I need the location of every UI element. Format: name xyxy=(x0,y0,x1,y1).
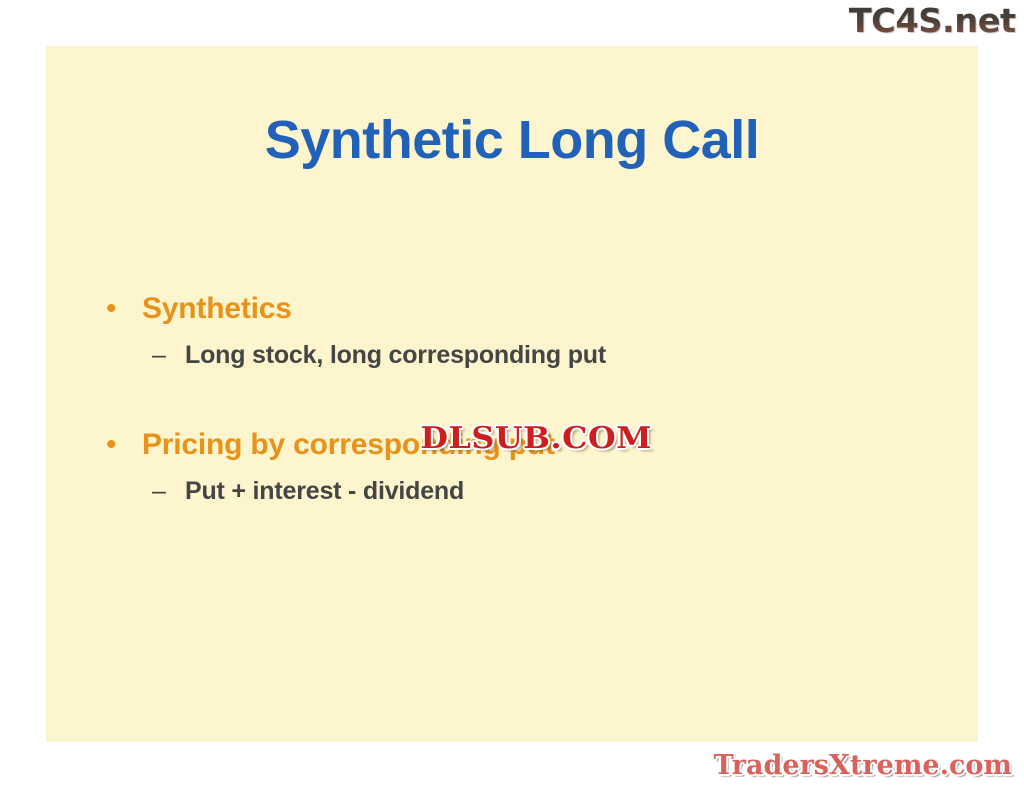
spacer xyxy=(46,372,978,426)
tradersxtreme-logo: TradersXtreme.com xyxy=(714,749,1012,783)
spacer xyxy=(46,330,978,338)
subbullet-item-long-stock: – Long stock, long corresponding put xyxy=(46,338,978,372)
dlsub-watermark: DLSUB.COM xyxy=(414,422,658,458)
bullet-dot-icon: • xyxy=(106,426,142,464)
slide-content: • Synthetics – Long stock, long correspo… xyxy=(46,290,978,508)
subbullet-label: Long stock, long corresponding put xyxy=(185,338,606,372)
bullet-item-synthetics: • Synthetics xyxy=(46,290,978,328)
tc4s-logo: TC4S.net xyxy=(849,2,1016,40)
spacer xyxy=(46,466,978,474)
bullet-dot-icon: • xyxy=(106,290,142,328)
slide-page: TC4S.net TC4S.net Synthetic Long Call • … xyxy=(0,0,1024,791)
dash-icon: – xyxy=(152,338,185,372)
bullet-label: Synthetics xyxy=(142,290,292,328)
dash-icon: – xyxy=(152,474,185,508)
slide-surface: Synthetic Long Call • Synthetics – Long … xyxy=(46,46,978,742)
subbullet-item-put-interest: – Put + interest - dividend xyxy=(46,474,978,508)
subbullet-label: Put + interest - dividend xyxy=(185,474,464,508)
slide-title: Synthetic Long Call xyxy=(46,112,978,169)
